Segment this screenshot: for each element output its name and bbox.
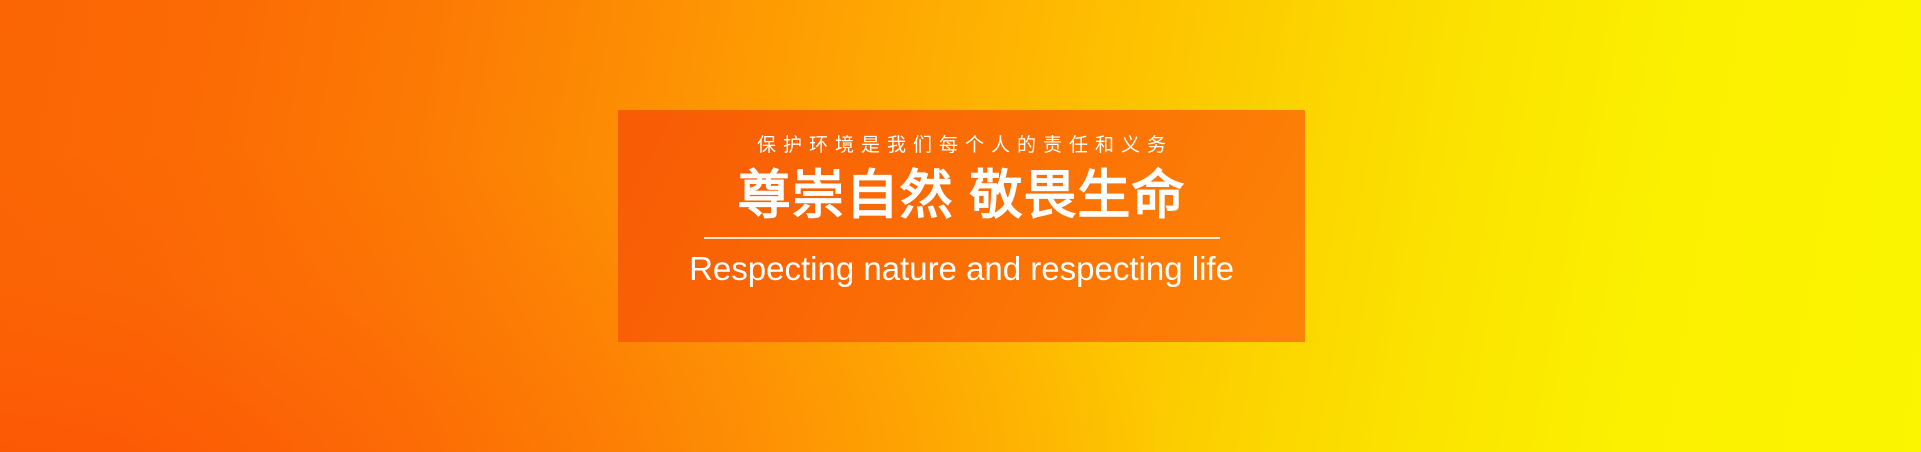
headline-divider: [704, 237, 1220, 239]
chinese-headline: 尊崇自然 敬畏生命: [738, 166, 1186, 225]
chinese-subtitle: 保护环境是我们每个人的责任和义务: [750, 136, 1173, 155]
banner-message-panel: 保护环境是我们每个人的责任和义务 尊崇自然 敬畏生命 Respecting na…: [618, 110, 1305, 342]
english-subtitle: Respecting nature and respecting life: [689, 252, 1234, 285]
environmental-banner: 保护环境是我们每个人的责任和义务 尊崇自然 敬畏生命 Respecting na…: [0, 0, 1921, 452]
